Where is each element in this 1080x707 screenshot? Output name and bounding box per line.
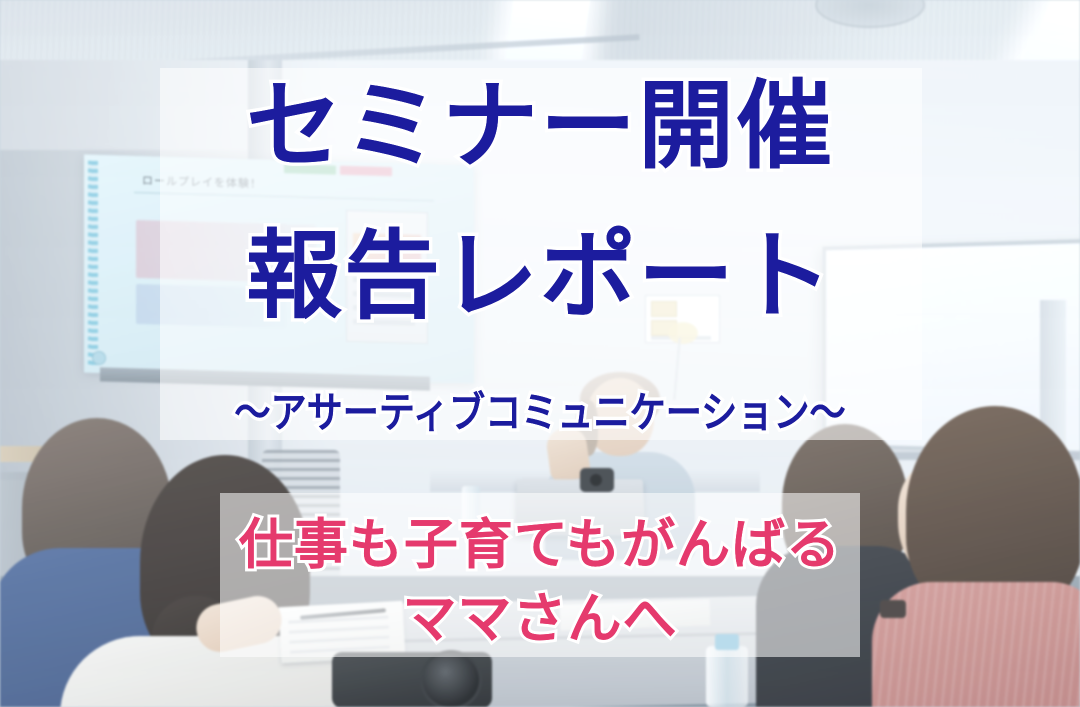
title-line-1: セミナー開催 <box>0 78 1080 174</box>
highlight-line-1: 仕事も子育てもがんばる <box>0 518 1080 572</box>
highlight-line-2: ママさんへ <box>0 592 1080 646</box>
text-layer: セミナー開催 セミナー開催 報告レポート 報告レポート 〜アサーティブコミュニケ… <box>0 0 1080 707</box>
banner-canvas: ロールプレイを体験！ <box>0 0 1080 707</box>
subtitle: 〜アサーティブコミュニケーション〜 <box>76 392 1005 434</box>
title-line-2: 報告レポート <box>0 228 1080 324</box>
